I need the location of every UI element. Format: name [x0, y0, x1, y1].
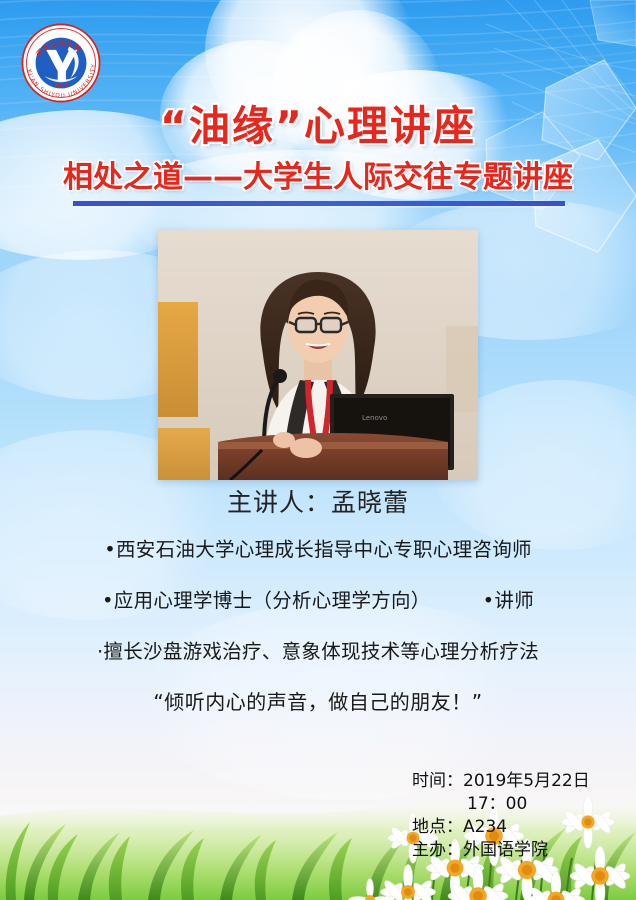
- place-label: 地点：: [412, 817, 463, 837]
- svg-text:Lenovo: Lenovo: [362, 414, 387, 422]
- speaker-quote: “倾听内心的声音，做自己的朋友！”: [0, 686, 636, 715]
- list-item: •应用心理学博士（分析心理学方向） •讲师: [0, 584, 636, 613]
- event-host-line: 主办：外国语学院: [412, 839, 636, 862]
- host-value: 外国语学院: [463, 840, 548, 860]
- event-details: 时间：2019年5月22日 17：00 地点：A234 主办：外国语学院: [412, 770, 636, 862]
- time-label: 时间：: [412, 771, 463, 791]
- speaker-name-line: 主讲人：孟晓蕾: [0, 483, 636, 519]
- poster-subtitle: 相处之道——大学生人际交往专题讲座: [0, 152, 636, 196]
- place-value: A234: [463, 817, 507, 837]
- poster-canvas: 1951 西安石油大学 XI'AN SHIYOU UNIVERSITY “油缘”…: [0, 0, 636, 900]
- speaker-photo: Lenovo: [158, 230, 478, 480]
- header-divider-line: [73, 201, 565, 206]
- svg-text:1951: 1951: [54, 84, 68, 90]
- time-value: 2019年5月22日: [463, 771, 590, 791]
- list-item: ·擅长沙盘游戏治疗、意象体现技术等心理分析疗法: [0, 635, 636, 664]
- credentials-list: •西安石油大学心理成长指导中心专职心理咨询师 •应用心理学博士（分析心理学方向）…: [0, 533, 636, 715]
- event-time-line: 时间：2019年5月22日: [412, 770, 636, 793]
- list-item: •西安石油大学心理成长指导中心专职心理咨询师: [0, 533, 636, 562]
- event-place-line: 地点：A234: [412, 816, 636, 839]
- poster-main-title: “油缘”心理讲座: [0, 92, 636, 152]
- host-label: 主办：: [412, 840, 463, 860]
- event-time-value2: 17：00: [412, 793, 636, 816]
